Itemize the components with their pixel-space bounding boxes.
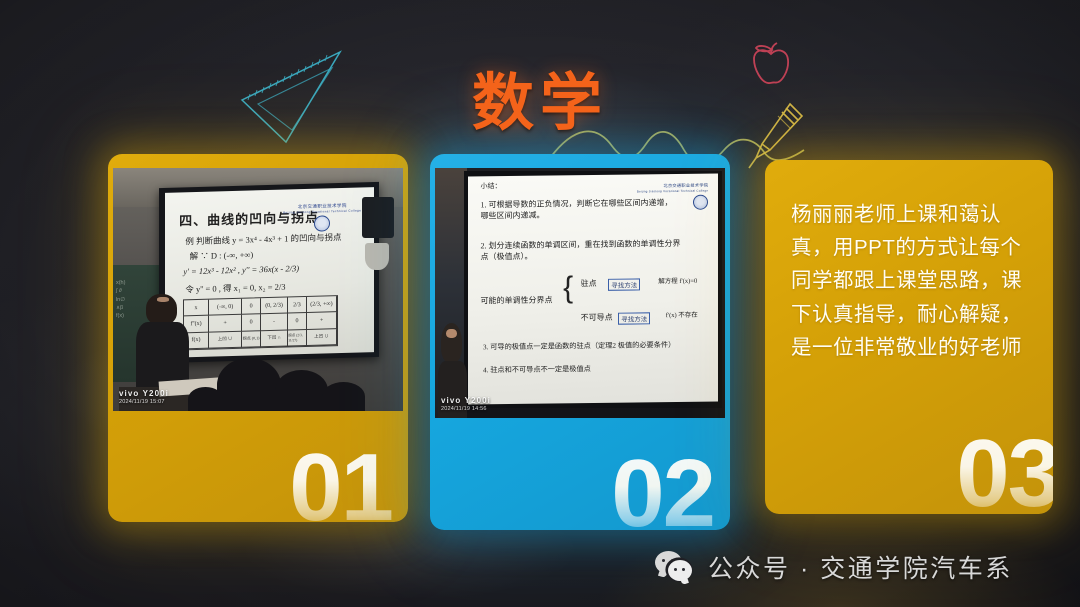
page-title: 数学	[0, 52, 1080, 142]
slide-line: 令 y'' = 0 , 得 x₁ = 0, x₂ = 2/3	[186, 280, 286, 295]
wechat-icon	[655, 551, 695, 583]
card-number: 01	[289, 440, 392, 522]
slide-line: 4. 驻点和不可导点不一定是极值点	[483, 363, 708, 376]
branch-item-label: 不可导点	[581, 312, 613, 324]
card-03[interactable]: 杨丽丽老师上课和蔼认真，用PPT的方式让每个同学都跟上课堂思路，课下认真指导，耐…	[765, 160, 1053, 514]
branch-item-label: 驻点	[581, 278, 597, 290]
classroom-projector-photo: x(h)∫ ∂ln∅∧βf(x) 四、曲线的凹向与拐点 北京交通职业技术学院 B…	[113, 168, 403, 411]
photo-watermark: vivo Y200i 2024/11/19 15:07	[119, 390, 169, 405]
lecture-slide-closeup-photo: 北京交通职业技术学院 Beijing Jiaotong Vocational T…	[435, 168, 725, 418]
card-number: 03	[956, 426, 1053, 514]
slide-line: 3. 可导的极值点一定是函数的驻点（定理2 极值的必要条件）	[483, 340, 708, 353]
slide-line: 解 ∵ D : (-∞, +∞)	[190, 248, 254, 262]
branch-item-note: f'(x) 不存在	[666, 311, 698, 321]
branch-item-box: 寻找方法	[618, 312, 650, 324]
slide-line: 小结：	[480, 181, 501, 191]
slide-table: x(-∞, 0) 0(0, 2/3) 2/3(2/3, +∞) f''(x)+ …	[184, 295, 339, 350]
slide-line: 1. 可根据导数的正负情况，判断它在哪些区间内递增，哪些区间内递减。	[480, 197, 675, 223]
card-number: 02	[611, 446, 714, 530]
card-02[interactable]: 北京交通职业技术学院 Beijing Jiaotong Vocational T…	[430, 154, 730, 530]
school-logo: 北京交通职业技术学院 Beijing Jiaotong Vocational T…	[284, 202, 362, 232]
slide-canvas: 数学	[0, 0, 1080, 607]
branch-item-note: 解方程 f'(x)=0	[658, 277, 697, 287]
card-03-body-text: 杨丽丽老师上课和蔼认真，用PPT的方式让每个同学都跟上课堂思路，课下认真指导，耐…	[791, 198, 1037, 364]
card-02-photo: 北京交通职业技术学院 Beijing Jiaotong Vocational T…	[435, 168, 725, 418]
footer-text: 公众号 · 交通学院汽车系	[708, 549, 1013, 585]
branch-label: 可能的单调性分界点	[480, 294, 552, 306]
photo-watermark: vivo Y200i 2024/11/19 14:56	[441, 397, 491, 412]
card-01-photo: x(h)∫ ∂ln∅∧βf(x) 四、曲线的凹向与拐点 北京交通职业技术学院 B…	[113, 168, 403, 411]
card-01[interactable]: x(h)∫ ∂ln∅∧βf(x) 四、曲线的凹向与拐点 北京交通职业技术学院 B…	[108, 154, 408, 522]
slide-line: 例 判断曲线 y = 3x⁴ - 4x³ + 1 的凹向与拐点	[186, 231, 342, 247]
slide-line: 2. 划分连续函数的单调区间，重在找到函数的单调性分界点（极值点）。	[480, 238, 685, 264]
footer: 公众号 · 交通学院汽车系	[655, 549, 1013, 585]
branch-item-box: 寻找方法	[608, 278, 640, 290]
slide-line: y' = 12x³ - 12x² , y'' = 36x(x - 2/3)	[184, 263, 300, 276]
